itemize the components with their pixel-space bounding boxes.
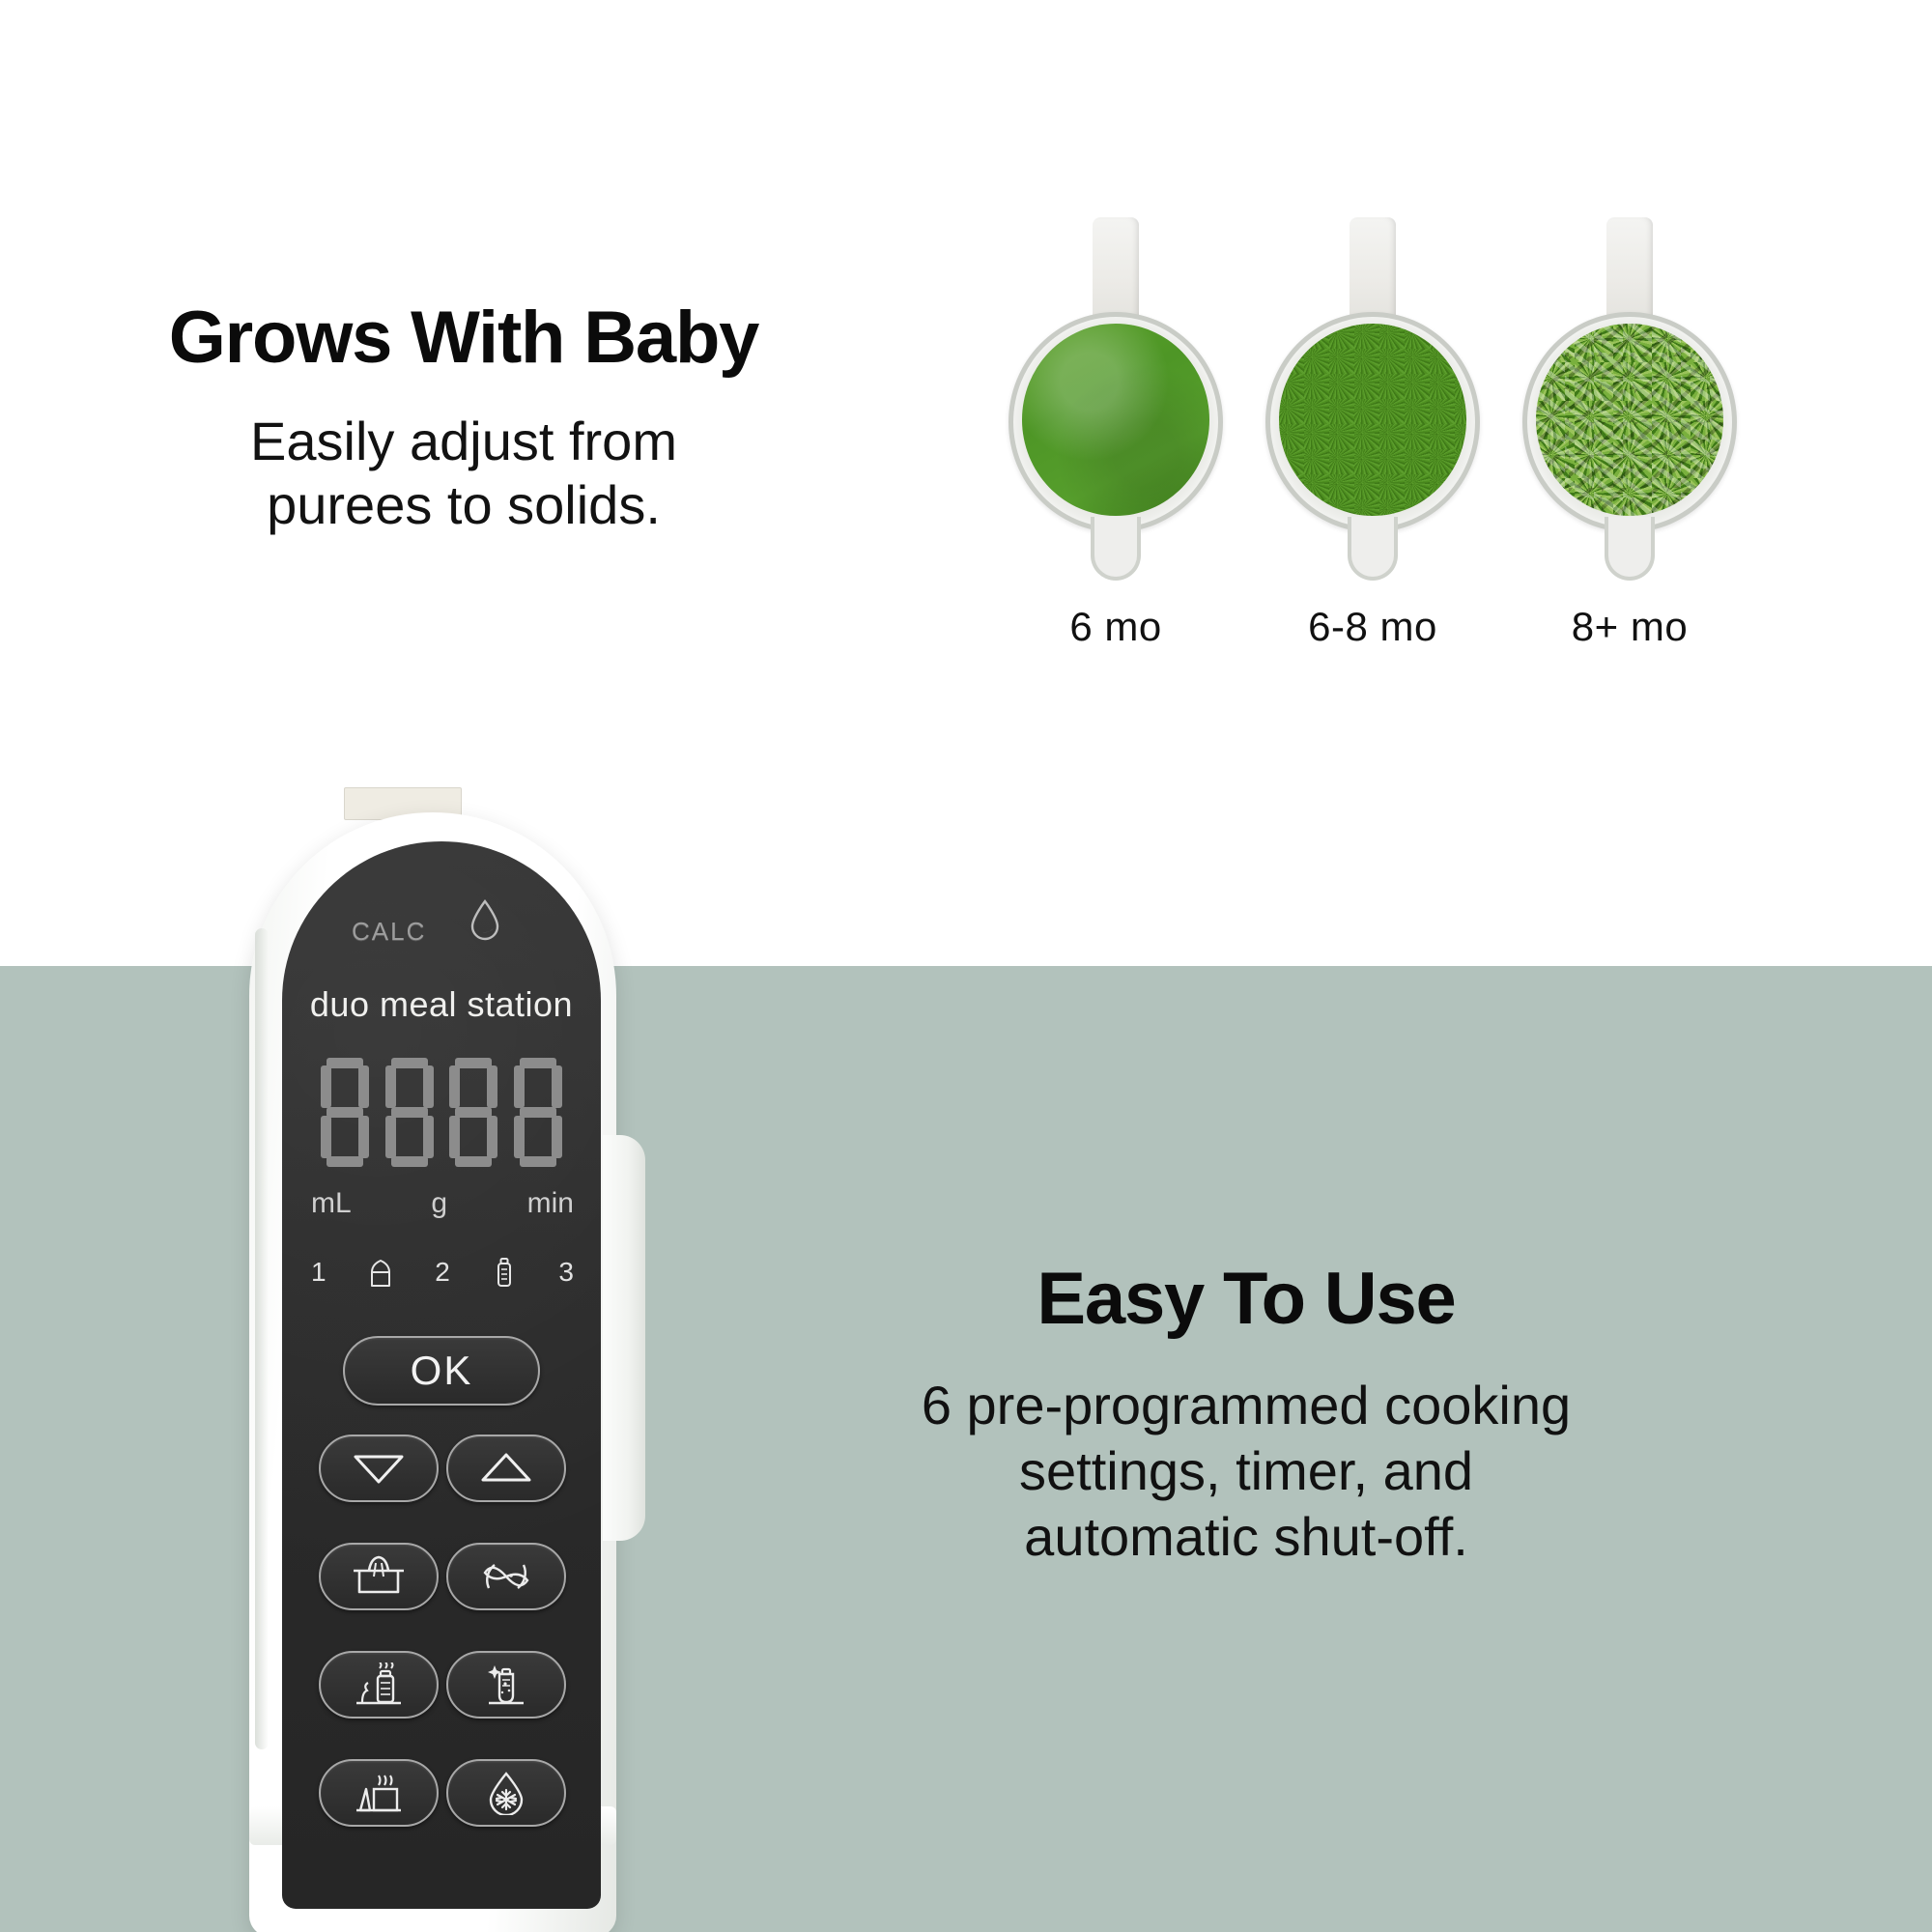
- blender-bowl-icon: [1009, 312, 1223, 532]
- brand-name: duo meal station: [282, 984, 601, 1025]
- promo-page: Grows With Baby Easily adjust from puree…: [0, 0, 1932, 1932]
- blender-blade-icon: [479, 1555, 533, 1598]
- easy-subcopy-line-1: 6 pre-programmed cooking: [922, 1375, 1571, 1435]
- food-chunky-texture: [1536, 324, 1723, 516]
- bottle-warming-icon: [349, 1662, 409, 1707]
- grows-subcopy-line-2: purees to solids.: [267, 474, 661, 535]
- housing-edge-highlight: [255, 928, 269, 1749]
- grows-subcopy: Easily adjust from purees to solids.: [97, 410, 831, 537]
- lcd-digit-3: [447, 1056, 499, 1170]
- easy-subcopy-line-2: settings, timer, and: [1019, 1440, 1473, 1501]
- bowl-spout-icon: [1348, 517, 1398, 581]
- control-panel: CALC duo meal station: [282, 841, 601, 1909]
- grows-headline: Grows With Baby: [97, 299, 831, 377]
- bowl-label-1: 6 mo: [1005, 604, 1227, 650]
- chevron-down-icon: [352, 1451, 406, 1486]
- lcd-digit-1: [319, 1056, 371, 1170]
- blender-bowl-icon: [1265, 312, 1480, 532]
- reheat-jar-icon: [349, 1772, 409, 1814]
- program-step-row: 1 2 3: [311, 1257, 574, 1288]
- program-step-3: 3: [558, 1257, 574, 1288]
- easy-subcopy: 6 pre-programmed cooking settings, timer…: [763, 1373, 1729, 1571]
- calc-indicator-label: CALC: [352, 917, 426, 947]
- texture-stage-item: 6 mo: [1005, 217, 1227, 623]
- ok-button[interactable]: OK: [343, 1336, 540, 1406]
- grows-with-baby-copy: Grows With Baby Easily adjust from puree…: [97, 299, 831, 537]
- steam-basket-icon: [366, 1257, 395, 1288]
- water-drop-icon: [469, 899, 501, 942]
- bowl-label-3: 8+ mo: [1519, 604, 1741, 650]
- lcd-digit-2: [384, 1056, 436, 1170]
- unit-label-min: min: [527, 1187, 574, 1220]
- food-puree-texture: [1022, 324, 1209, 516]
- bottle-warm-button[interactable]: [319, 1651, 439, 1719]
- steam-basket-icon: [350, 1555, 408, 1598]
- blend-button[interactable]: [446, 1543, 566, 1610]
- bowl-label-2: 6-8 mo: [1262, 604, 1484, 650]
- steam-cook-button[interactable]: [319, 1543, 439, 1610]
- chevron-up-icon: [479, 1451, 533, 1486]
- easy-headline: Easy To Use: [763, 1261, 1729, 1338]
- arrow-up-button[interactable]: [446, 1435, 566, 1502]
- texture-stage-gallery: 6 mo 6-8 mo 8+ mo: [1005, 217, 1777, 623]
- reheat-button[interactable]: [319, 1759, 439, 1827]
- device-side-tab: [603, 1135, 645, 1541]
- texture-stage-item: 6-8 mo: [1262, 217, 1484, 623]
- duo-meal-station-device: CALC duo meal station: [249, 787, 752, 1932]
- easy-to-use-copy: Easy To Use 6 pre-programmed cooking set…: [763, 1261, 1729, 1571]
- food-coarse-texture: [1279, 324, 1466, 516]
- blender-bowl-icon: [1522, 312, 1737, 532]
- unit-label-ml: mL: [311, 1187, 352, 1220]
- bottle-icon: [490, 1257, 519, 1288]
- texture-stage-item: 8+ mo: [1519, 217, 1741, 623]
- lcd-digit-4: [512, 1056, 564, 1170]
- program-step-1: 1: [311, 1257, 327, 1288]
- unit-label-g: g: [431, 1187, 447, 1220]
- defrost-drop-icon: [483, 1771, 529, 1815]
- bowl-spout-icon: [1091, 517, 1141, 581]
- defrost-button[interactable]: [446, 1759, 566, 1827]
- bowl-spout-icon: [1605, 517, 1655, 581]
- program-step-2: 2: [435, 1257, 450, 1288]
- grows-subcopy-line-1: Easily adjust from: [250, 411, 677, 471]
- sterilize-button[interactable]: [446, 1651, 566, 1719]
- arrow-down-button[interactable]: [319, 1435, 439, 1502]
- lcd-display: [319, 1056, 564, 1172]
- unit-label-row: mL g min: [311, 1187, 574, 1220]
- easy-subcopy-line-3: automatic shut-off.: [1024, 1506, 1468, 1567]
- bottle-sterilize-icon: [479, 1662, 533, 1707]
